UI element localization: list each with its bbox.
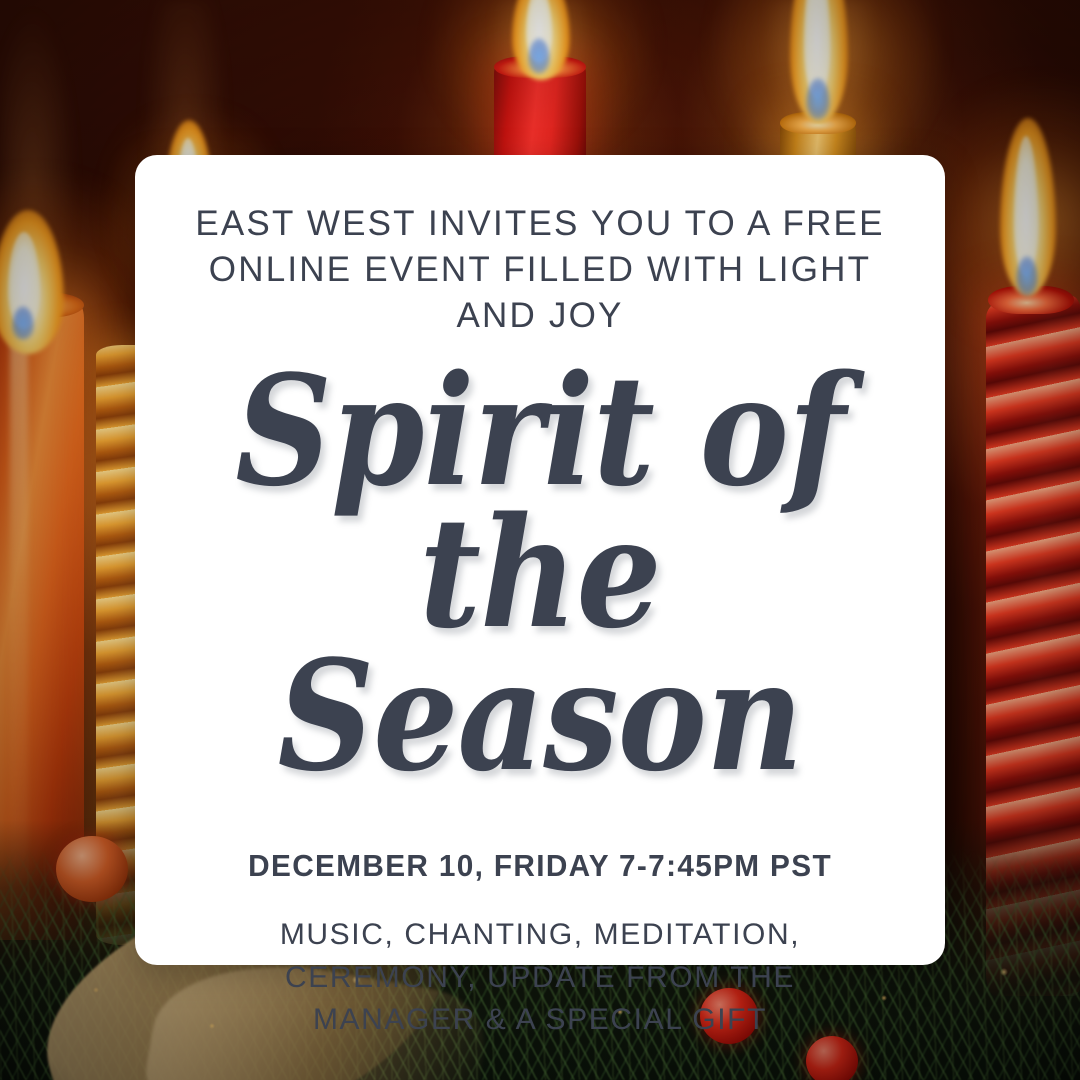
candle-left-flame-base	[12, 306, 34, 340]
event-details: Music, chanting, meditation, ceremony, u…	[210, 914, 870, 1042]
event-card: East West invites you to a free online e…	[135, 155, 945, 965]
poster-canvas: East West invites you to a free online e…	[0, 0, 1080, 1080]
candle-center-flame-base	[528, 38, 550, 74]
event-title: Spirit of the Season	[219, 360, 861, 789]
event-date-time: December 10, Friday 7-7:45pm PST	[248, 848, 832, 884]
invitation-kicker: East West invites you to a free online e…	[190, 201, 890, 340]
